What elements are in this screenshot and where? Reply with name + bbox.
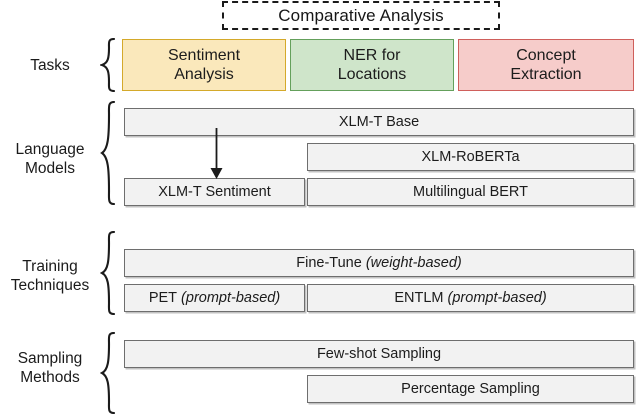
task-line2: Extraction — [510, 66, 581, 83]
brace-language-models — [100, 101, 116, 205]
model-box-xlm-roberta[interactable]: XLM-RoBERTa — [307, 143, 634, 171]
task-line2: Analysis — [174, 66, 234, 83]
model-label-xlm-t-base: XLM-T Base — [339, 114, 419, 131]
task-box-ner-for-locations[interactable]: NER for Locations — [290, 39, 454, 91]
model-box-multilingual-bert[interactable]: Multilingual BERT — [307, 178, 634, 206]
model-label-multilingual-bert: Multilingual BERT — [413, 184, 528, 201]
row-label-sampling-methods-line2: Methods — [2, 368, 98, 387]
brace-tasks — [100, 38, 116, 92]
sampling-label-few-shot: Few-shot Sampling — [317, 346, 441, 363]
sampling-box-few-shot[interactable]: Few-shot Sampling — [124, 340, 634, 368]
task-label-ner-for-locations: NER for Locations — [338, 46, 407, 84]
sampling-box-percentage[interactable]: Percentage Sampling — [307, 375, 634, 403]
task-line2: Locations — [338, 66, 407, 83]
technique-label-fine-tune: Fine-Tune (weight-based) — [296, 255, 462, 272]
technique-main: Fine-Tune — [296, 255, 362, 271]
row-label-language-models: Language Models — [2, 140, 98, 178]
task-label-sentiment-analysis: Sentiment Analysis — [168, 46, 240, 84]
sampling-label-percentage: Percentage Sampling — [401, 381, 540, 398]
task-box-concept-extraction[interactable]: Concept Extraction — [458, 39, 634, 91]
task-line1: Concept — [516, 47, 576, 64]
model-label-xlm-t-sentiment: XLM-T Sentiment — [158, 184, 271, 201]
task-line1: NER for — [344, 47, 401, 64]
technique-box-pet[interactable]: PET (prompt-based) — [124, 284, 305, 312]
technique-main: PET — [149, 290, 177, 306]
row-label-tasks-line1: Tasks — [2, 56, 98, 75]
row-label-sampling-methods: Sampling Methods — [2, 349, 98, 387]
model-label-xlm-roberta: XLM-RoBERTa — [421, 149, 519, 166]
row-label-sampling-methods-line1: Sampling — [2, 349, 98, 368]
technique-box-fine-tune[interactable]: Fine-Tune (weight-based) — [124, 249, 634, 277]
row-label-tasks: Tasks — [2, 56, 98, 75]
diagram-title-box: Comparative Analysis — [222, 1, 500, 30]
technique-emphasis: (prompt-based) — [181, 290, 280, 306]
brace-training-techniques — [100, 231, 116, 315]
arrow-xlm-t-base-to-sentiment — [209, 128, 225, 182]
technique-main: ENTLM — [394, 290, 443, 306]
technique-label-pet: PET (prompt-based) — [149, 290, 280, 307]
brace-sampling-methods — [100, 332, 116, 414]
technique-label-entlm: ENTLM (prompt-based) — [394, 290, 546, 307]
model-box-xlm-t-sentiment[interactable]: XLM-T Sentiment — [124, 178, 305, 206]
task-label-concept-extraction: Concept Extraction — [510, 46, 581, 84]
row-label-training-techniques-line1: Training — [2, 257, 98, 276]
row-label-language-models-line1: Language — [2, 140, 98, 159]
row-label-training-techniques: Training Techniques — [2, 257, 98, 295]
diagram-canvas: Comparative Analysis Tasks Sentiment Ana… — [0, 0, 640, 417]
row-label-training-techniques-line2: Techniques — [2, 276, 98, 295]
row-label-language-models-line2: Models — [2, 159, 98, 178]
task-box-sentiment-analysis[interactable]: Sentiment Analysis — [122, 39, 286, 91]
diagram-title-text: Comparative Analysis — [278, 6, 443, 26]
technique-emphasis: (weight-based) — [366, 255, 462, 271]
technique-box-entlm[interactable]: ENTLM (prompt-based) — [307, 284, 634, 312]
task-line1: Sentiment — [168, 47, 240, 64]
model-box-xlm-t-base[interactable]: XLM-T Base — [124, 108, 634, 136]
technique-emphasis: (prompt-based) — [448, 290, 547, 306]
